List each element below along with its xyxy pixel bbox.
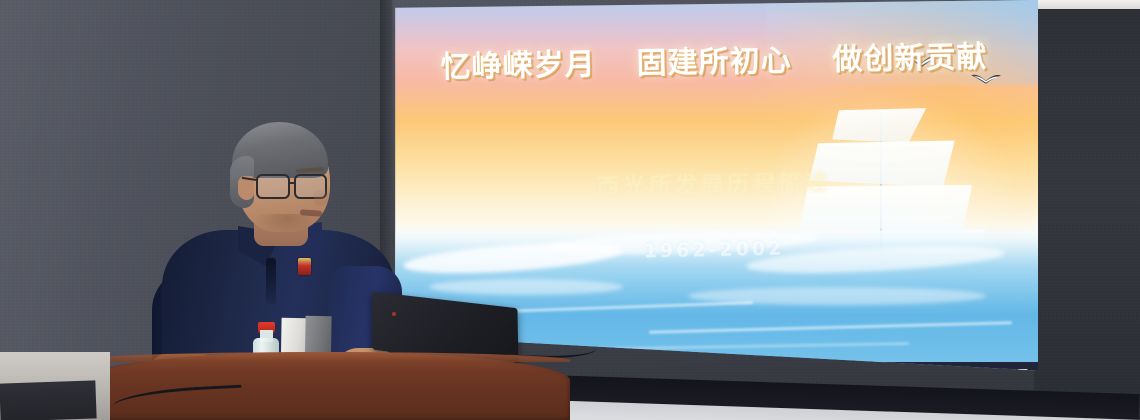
slide-title-part-3: 做创新贡献 [832,32,988,79]
podium-shadow [0,380,97,420]
shirt-placket [266,258,276,304]
slide-title-part-2: 固建所初心 [636,35,792,82]
wall-right-dark-panel [1034,8,1140,420]
ceiling-strip [1030,0,1140,9]
nose [314,188,328,206]
party-emblem-pin [298,258,311,275]
slide-title-part-1: 忆峥嵘岁月 [440,39,596,86]
wave-line [649,321,1012,333]
eyeglasses-bridge [289,182,296,184]
podium-top-edge [80,352,570,362]
wave-foam [429,279,623,295]
eyeglasses-lens-left [256,174,290,199]
presentation-photo-scene: 忆峥嵘岁月 固建所初心 做创新贡献 西光所发展历程简述 1962-2002 [0,0,1140,420]
chin-shadow [254,214,320,234]
laptop-indicator-light [392,312,396,316]
